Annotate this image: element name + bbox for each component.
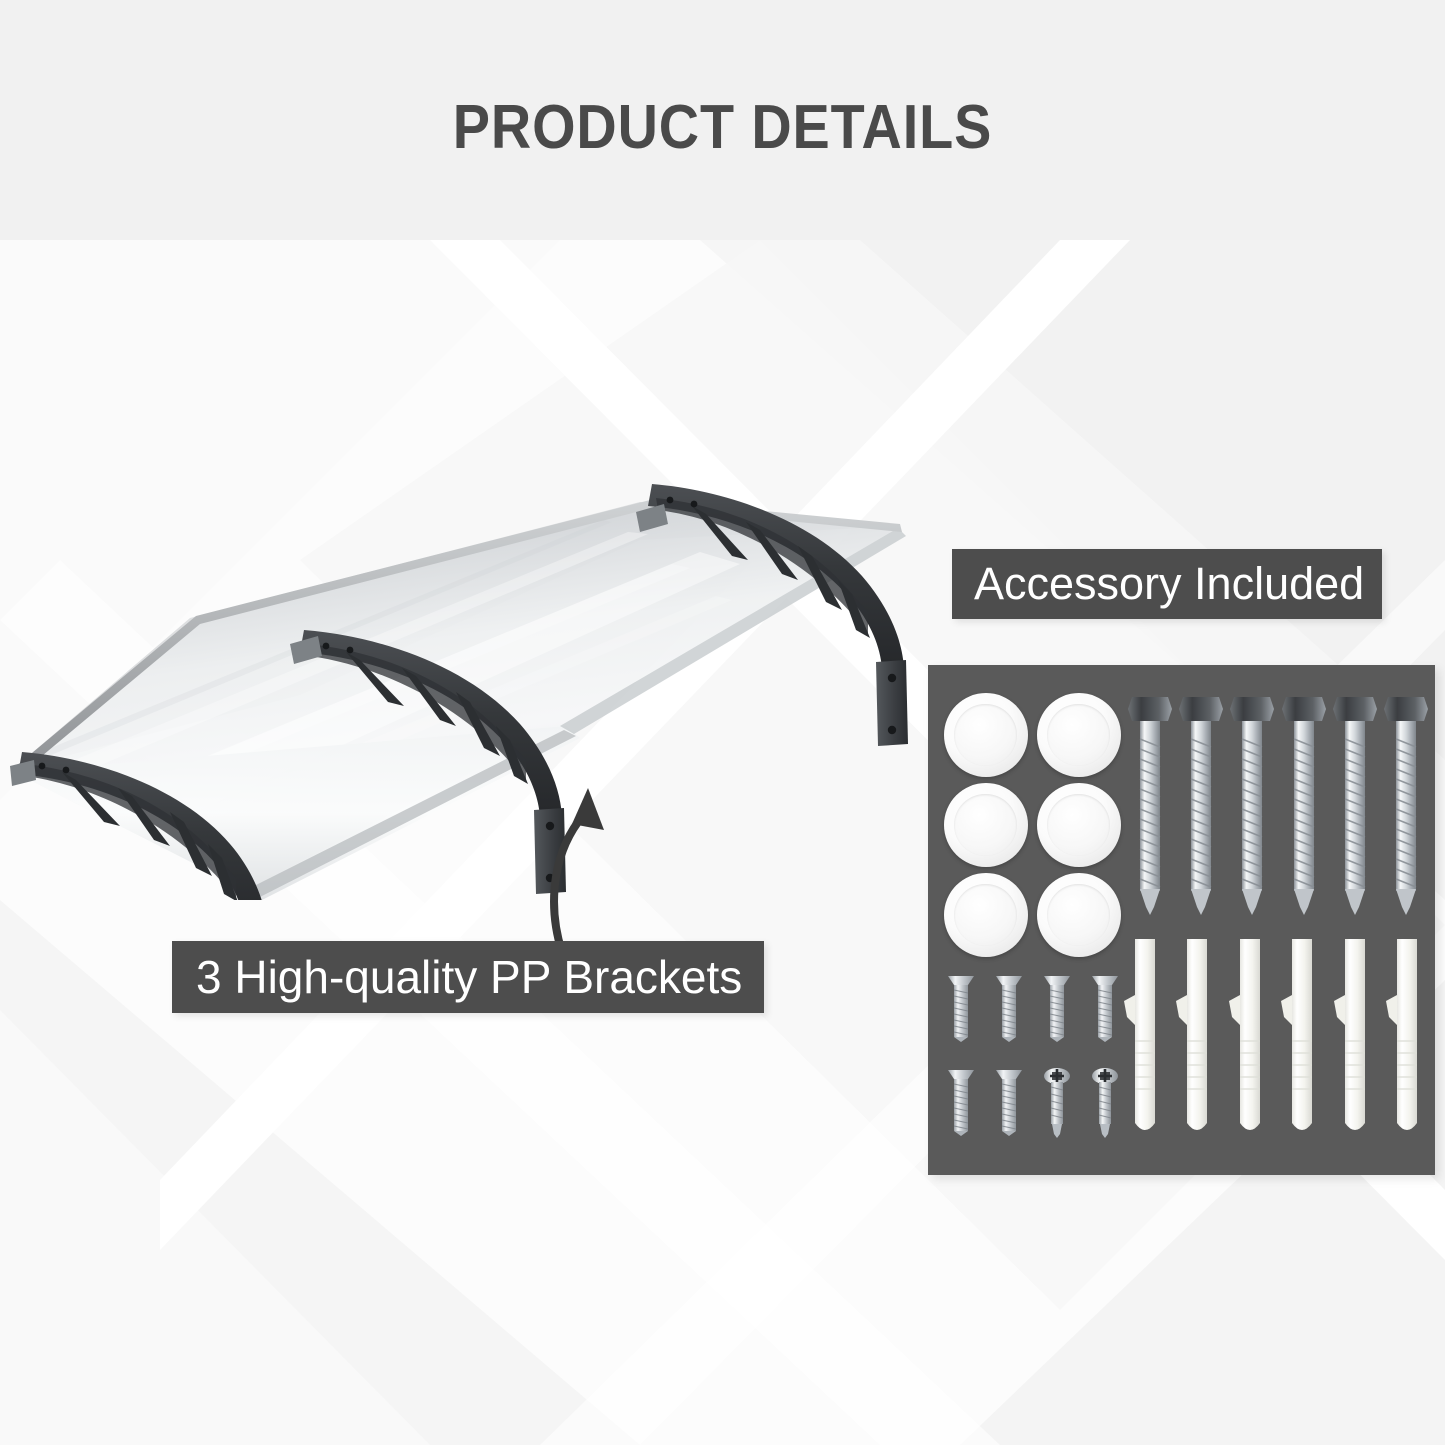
wall-plugs-group <box>1124 933 1428 1158</box>
machine-screw <box>992 1064 1026 1145</box>
wall-plug <box>1386 933 1428 1152</box>
product-details-page: PRODUCT DETAILS <box>0 0 1445 1445</box>
machine-screw <box>944 970 978 1051</box>
wall-plug <box>1124 933 1166 1152</box>
wall-plug <box>1176 933 1218 1152</box>
lag-screws-group <box>1128 687 1428 927</box>
cover-cap <box>1037 873 1121 957</box>
accessory-panel <box>928 665 1435 1175</box>
lag-screw <box>1384 687 1428 924</box>
cover-cap <box>944 783 1028 867</box>
cover-cap <box>1037 783 1121 867</box>
small-screws-group <box>938 965 1128 1150</box>
wall-plug <box>1229 933 1271 1152</box>
machine-screw <box>1088 970 1122 1051</box>
wall-plug <box>1334 933 1376 1152</box>
self-drilling-screw <box>1040 1064 1074 1145</box>
cover-cap <box>944 873 1028 957</box>
cover-caps-group <box>942 693 1122 953</box>
callout-brackets-label: 3 High-quality PP Brackets <box>196 950 742 1004</box>
lag-screw <box>1333 687 1377 924</box>
lag-screw <box>1179 687 1223 924</box>
lag-screw <box>1230 687 1274 924</box>
page-title: PRODUCT DETAILS <box>72 92 1373 163</box>
machine-screw <box>1040 970 1074 1051</box>
lag-screw <box>1128 687 1172 924</box>
machine-screw <box>992 970 1026 1051</box>
self-drilling-screw <box>1088 1064 1122 1145</box>
cover-cap <box>1037 693 1121 777</box>
lag-screw <box>1282 687 1326 924</box>
product-image-awning <box>0 480 920 900</box>
callout-accessory-banner: Accessory Included <box>952 549 1382 619</box>
wall-plug <box>1281 933 1323 1152</box>
cover-cap <box>944 693 1028 777</box>
machine-screw <box>944 1064 978 1145</box>
callout-accessory-label: Accessory Included <box>974 558 1364 610</box>
callout-brackets-banner: 3 High-quality PP Brackets <box>172 941 764 1013</box>
